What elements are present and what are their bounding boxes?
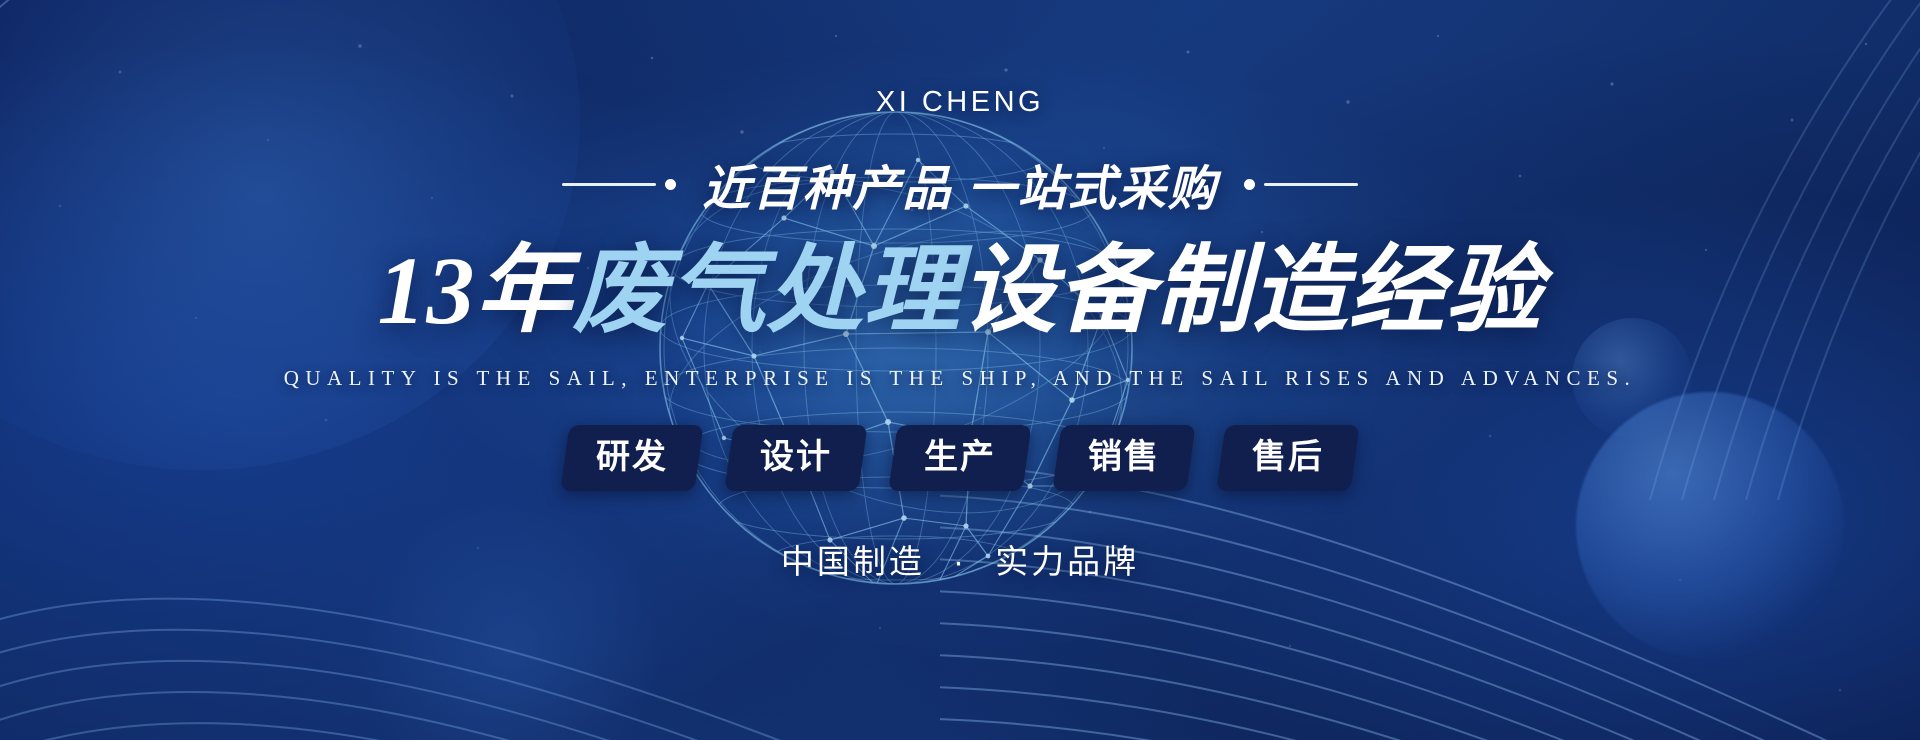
service-pill-list: 研发 设计 生产 销售 售后 bbox=[565, 425, 1355, 491]
pill-label: 生产 bbox=[924, 436, 996, 480]
footer-slogan: 中国制造 · 实力品牌 bbox=[781, 535, 1139, 583]
service-pill-design[interactable]: 设计 bbox=[724, 425, 867, 491]
ornament-dot bbox=[665, 179, 676, 190]
footer-slogan-left: 中国制造 bbox=[781, 543, 925, 580]
footer-separator-dot: · bbox=[937, 543, 983, 580]
brand-name-en: XI CHENG bbox=[876, 86, 1044, 119]
service-pill-produce[interactable]: 生产 bbox=[888, 425, 1031, 491]
ornament-dot bbox=[1244, 179, 1255, 190]
headline-accent: 废气处理 bbox=[573, 237, 961, 344]
tagline-english: QUALITY IS THE SAIL, ENTERPRISE IS THE S… bbox=[284, 366, 1637, 391]
pill-label: 研发 bbox=[596, 436, 668, 480]
pill-label: 售后 bbox=[1252, 436, 1324, 480]
subline-row: 近百种产品 一站式采购 bbox=[562, 149, 1357, 219]
banner-content: XI CHENG 近百种产品 一站式采购 13年废气处理设备制造经验 QUALI… bbox=[0, 0, 1920, 740]
headline-tail: 设备制造经验 bbox=[961, 237, 1543, 344]
pill-label: 销售 bbox=[1088, 436, 1160, 480]
service-pill-sales[interactable]: 销售 bbox=[1052, 425, 1195, 491]
headline-years: 13年 bbox=[378, 237, 573, 344]
footer-slogan-right: 实力品牌 bbox=[995, 543, 1139, 580]
pill-label: 设计 bbox=[760, 436, 832, 480]
hero-banner: XI CHENG 近百种产品 一站式采购 13年废气处理设备制造经验 QUALI… bbox=[0, 0, 1920, 740]
ornament-bar bbox=[1264, 183, 1358, 186]
page-title: 13年废气处理设备制造经验 bbox=[378, 235, 1543, 346]
service-pill-rd[interactable]: 研发 bbox=[560, 425, 703, 491]
service-pill-aftersale[interactable]: 售后 bbox=[1216, 425, 1359, 491]
dot-line-ornament bbox=[1244, 179, 1358, 190]
subline-text: 近百种产品 一站式采购 bbox=[702, 149, 1217, 219]
ornament-bar bbox=[562, 183, 656, 186]
line-dot-ornament bbox=[562, 179, 676, 190]
